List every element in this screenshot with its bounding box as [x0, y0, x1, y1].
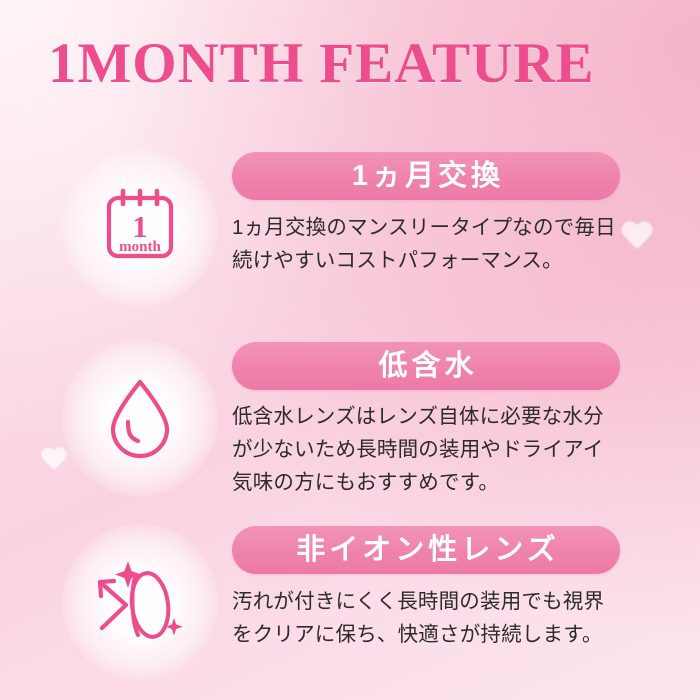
description-line: をクリアに保ち、快適さが持続します。 [232, 618, 632, 651]
feature-icon-wrapper: 1 month [62, 150, 218, 306]
feature-title-label: 低含水 [374, 351, 477, 381]
feature-poster: 1MONTH FEATURE 1 month 1ヵ月交換 1ヵ月交換のマンスリー… [0, 0, 700, 700]
page-title: 1MONTH FEATURE [48, 33, 595, 95]
feature-title-badge: 非イオン性レンズ [232, 526, 620, 574]
non-ionic-lens-arrow-icon [92, 556, 188, 648]
description-line: 続けやすいコストパフォーマンス。 [232, 244, 632, 277]
description-line: 低含水レンズはレンズ自体に必要な水分 [232, 400, 632, 433]
calendar-caption: month [119, 239, 161, 255]
feature-icon-wrapper [62, 340, 218, 496]
feature-title-label: 非イオン性レンズ [292, 535, 559, 565]
water-drop-icon [97, 375, 183, 461]
feature-icon-wrapper [62, 524, 218, 680]
description-line: 1ヵ月交換のマンスリータイプなので毎日 [232, 211, 632, 244]
feature-title-badge: 低含水 [232, 342, 620, 390]
calendar-1-month-icon: 1 month [97, 185, 183, 271]
feature-title-badge: 1ヵ月交換 [232, 152, 620, 200]
feature-description: 1ヵ月交換のマンスリータイプなので毎日 続けやすいコストパフォーマンス。 [232, 211, 632, 277]
feature-description: 低含水レンズはレンズ自体に必要な水分 が少ないため長時間の装用やドライアイ 気味… [232, 400, 632, 499]
description-line: 気味の方にもおすすめです。 [232, 466, 632, 499]
feature-description: 汚れが付きにくく長時間の装用でも視界 をクリアに保ち、快適さが持続します。 [232, 585, 632, 651]
description-line: 汚れが付きにくく長時間の装用でも視界 [232, 585, 632, 618]
feature-title-label: 1ヵ月交換 [348, 161, 504, 191]
description-line: が少ないため長時間の装用やドライアイ [232, 433, 632, 466]
